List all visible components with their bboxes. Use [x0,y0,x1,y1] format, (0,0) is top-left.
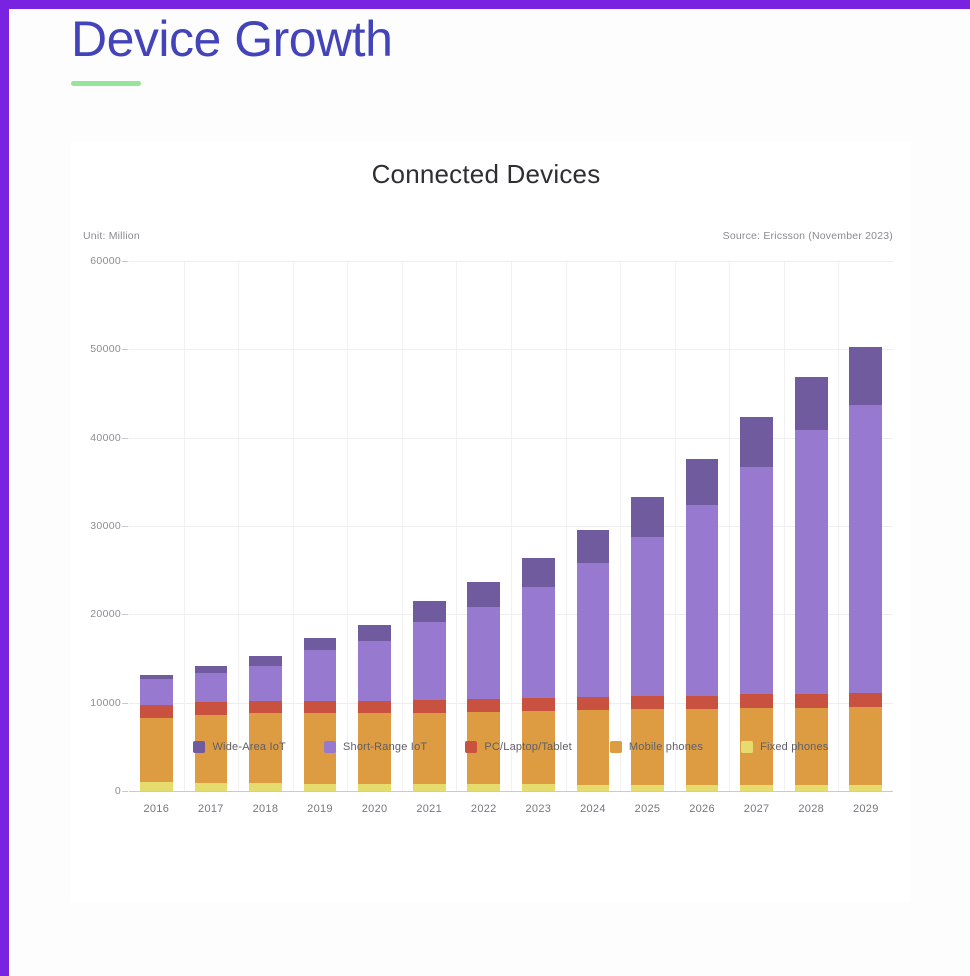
legend-item[interactable]: PC/Laptop/Tablet [465,741,572,753]
bar-segment[interactable] [740,417,773,467]
bar-segment[interactable] [795,377,828,430]
chart-legend: Wide-Area IoTShort-Range IoTPC/Laptop/Ta… [129,741,893,753]
bar-segment[interactable] [522,698,555,711]
bar-segment[interactable] [413,601,446,622]
bar-segment[interactable] [304,701,337,713]
plot-area: 0100002000030000400005000060000 20162017… [129,262,893,792]
bar-segment[interactable] [358,641,391,701]
bar-segment[interactable] [467,607,500,699]
bar-column[interactable]: 2019 [293,262,348,792]
y-axis-tick-mark [122,349,128,350]
x-axis-tick-label: 2024 [580,803,606,815]
legend-swatch-icon [610,741,622,753]
y-axis-tick-label: 0 [115,785,121,797]
legend-item[interactable]: Fixed phones [741,741,828,753]
title-underline-accent [71,81,141,86]
bar-segment[interactable] [304,650,337,700]
y-axis-tick-label: 40000 [90,432,121,444]
legend-item[interactable]: Wide-Area IoT [193,741,286,753]
bar-column[interactable]: 2025 [620,262,675,792]
bar-segment[interactable] [577,697,610,710]
stacked-bar[interactable] [249,656,282,792]
x-axis-tick-label: 2020 [362,803,388,815]
x-axis-tick-label: 2022 [471,803,497,815]
x-axis-tick-label: 2016 [143,803,169,815]
x-axis-tick-label: 2019 [307,803,333,815]
y-axis-tick-mark [122,614,128,615]
bar-segment[interactable] [140,705,173,717]
bar-segment[interactable] [522,587,555,698]
stacked-bar[interactable] [467,582,500,792]
legend-item[interactable]: Mobile phones [610,741,703,753]
legend-swatch-icon [465,741,477,753]
y-axis-tick-label: 20000 [90,608,121,620]
y-axis-tick-mark [122,703,128,704]
bar-segment[interactable] [849,347,882,404]
bar-column[interactable]: 2021 [402,262,457,792]
y-axis-tick-label: 30000 [90,520,121,532]
page-title: Device Growth [71,9,671,69]
bar-segment[interactable] [195,702,228,714]
bar-segment[interactable] [849,405,882,693]
bar-column[interactable]: 2017 [184,262,239,792]
bar-segment[interactable] [849,693,882,707]
bar-segment[interactable] [195,666,228,673]
bar-segment[interactable] [631,696,664,709]
x-axis-tick-label: 2027 [744,803,770,815]
bar-segment[interactable] [686,696,719,709]
stacked-bar[interactable] [140,675,173,792]
legend-swatch-icon [324,741,336,753]
x-axis-tick-label: 2018 [253,803,279,815]
bar-segment[interactable] [195,673,228,702]
bars-group: 2016201720182019202020212022202320242025… [129,262,893,792]
bar-segment[interactable] [795,694,828,708]
bar-segment[interactable] [631,537,664,696]
x-axis-tick-label: 2025 [635,803,661,815]
bar-column[interactable]: 2022 [456,262,511,792]
legend-item-label: PC/Laptop/Tablet [484,741,572,753]
bar-column[interactable]: 2028 [784,262,839,792]
bar-column[interactable]: 2029 [839,262,894,792]
y-axis-tick-mark [122,526,128,527]
legend-item-label: Fixed phones [760,741,828,753]
stacked-bar[interactable] [522,558,555,792]
stacked-bar[interactable] [740,417,773,792]
bar-segment[interactable] [795,430,828,694]
bar-segment[interactable] [304,638,337,650]
bar-segment[interactable] [249,656,282,666]
stacked-bar[interactable] [195,666,228,792]
stacked-bar[interactable] [795,377,828,792]
bar-column[interactable]: 2024 [566,262,621,792]
bar-segment[interactable] [467,699,500,712]
x-axis-tick-label: 2017 [198,803,224,815]
y-axis-tick-label: 60000 [90,255,121,267]
bar-segment[interactable] [631,497,664,537]
y-axis-tick-mark [122,791,128,792]
y-axis-tick-label: 10000 [90,697,121,709]
bar-column[interactable]: 2027 [729,262,784,792]
y-axis-tick-mark [122,261,128,262]
source-label: Source: Ericsson (November 2023) [723,230,893,242]
x-axis-tick-label: 2026 [689,803,715,815]
bar-segment[interactable] [740,694,773,708]
y-axis-tick-label: 50000 [90,343,121,355]
stacked-bar[interactable] [849,347,882,792]
bar-segment[interactable] [358,701,391,713]
chart-card: Connected Devices Unit: Million Source: … [71,141,911,901]
chart-title: Connected Devices [71,159,911,190]
stacked-bar[interactable] [304,638,337,792]
slide-header: Device Growth [71,9,671,86]
legend-swatch-icon [741,741,753,753]
stacked-bar[interactable] [413,601,446,792]
x-axis-tick-label: 2021 [416,803,442,815]
bar-segment[interactable] [740,467,773,694]
legend-item[interactable]: Short-Range IoT [324,741,427,753]
x-axis-tick-label: 2023 [525,803,551,815]
bar-column[interactable]: 2018 [238,262,293,792]
bar-segment[interactable] [140,679,173,705]
bar-column[interactable]: 2020 [347,262,402,792]
legend-item-label: Mobile phones [629,741,703,753]
slide-canvas: Device Growth Connected Devices Unit: Mi… [0,0,970,976]
y-axis-tick-mark [122,438,128,439]
x-axis-line [129,791,893,792]
bar-segment[interactable] [413,700,446,712]
bar-segment[interactable] [686,505,719,696]
chart-meta: Unit: Million Source: Ericsson (November… [71,230,911,250]
unit-label: Unit: Million [83,230,140,242]
legend-item-label: Wide-Area IoT [212,741,286,753]
legend-item-label: Short-Range IoT [343,741,427,753]
bar-column[interactable]: 2026 [675,262,730,792]
legend-swatch-icon [193,741,205,753]
bar-segment[interactable] [358,625,391,641]
bar-segment[interactable] [249,701,282,713]
x-axis-tick-label: 2029 [853,803,879,815]
stacked-bar[interactable] [358,625,391,792]
bar-segment[interactable] [577,563,610,697]
bar-segment[interactable] [413,622,446,700]
bar-segment[interactable] [522,558,555,586]
bar-column[interactable]: 2016 [129,262,184,792]
bar-segment[interactable] [467,582,500,607]
bar-segment[interactable] [577,530,610,563]
bar-segment[interactable] [249,666,282,701]
x-axis-tick-label: 2028 [798,803,824,815]
bar-column[interactable]: 2023 [511,262,566,792]
bar-segment[interactable] [686,459,719,505]
